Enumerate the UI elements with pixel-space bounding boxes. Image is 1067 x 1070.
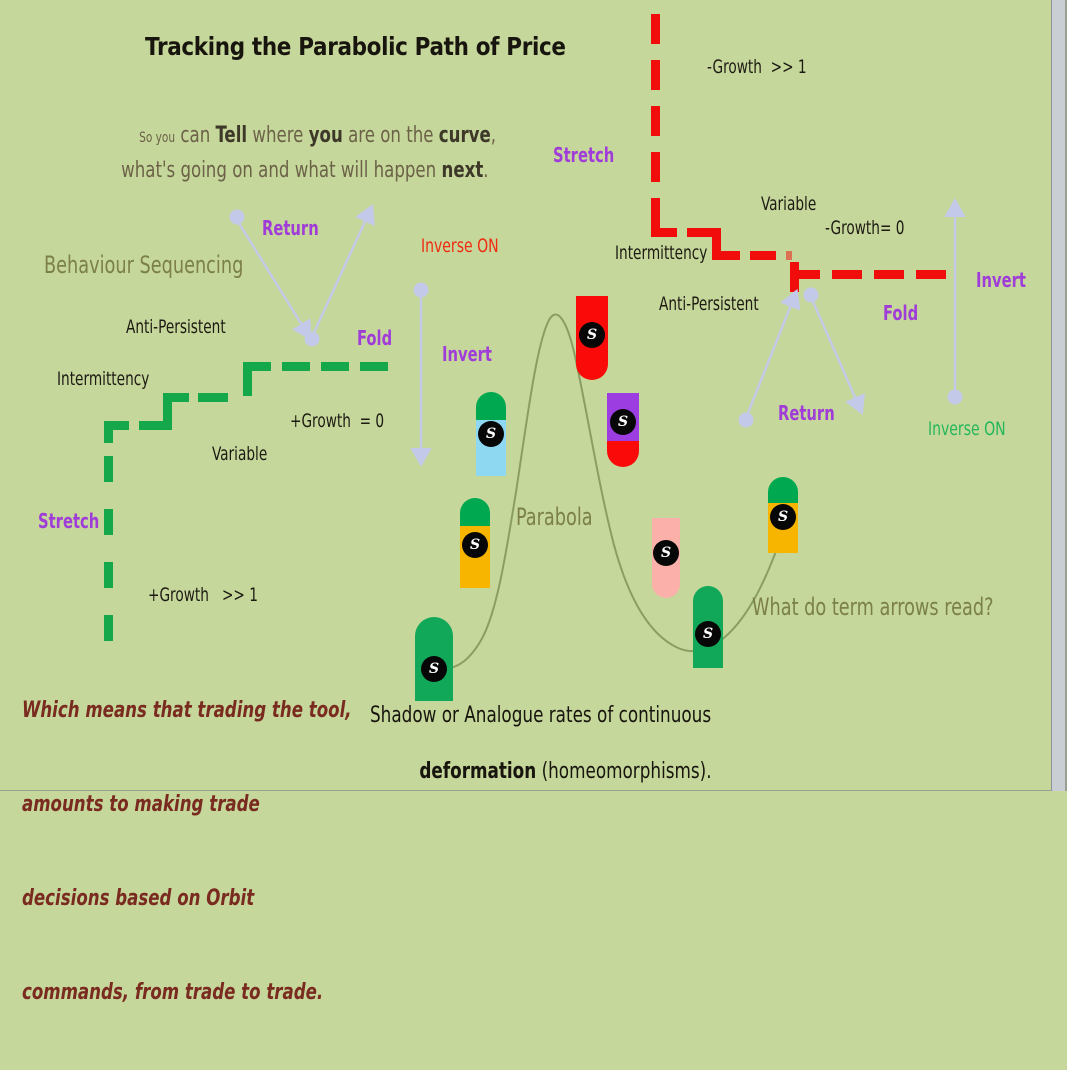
label-left-inverse-on: Inverse ON (421, 236, 499, 258)
subtitle-line-2: what's going on and what will happen nex… (100, 133, 489, 209)
page-title: Tracking the Parabolic Path of Price (145, 33, 566, 62)
label-left-fold: Fold (357, 327, 392, 350)
caption-homeomorphisms: (homeomorphisms). (536, 759, 711, 784)
label-left-return: Return (262, 217, 319, 240)
diagram-canvas: Tracking the Parabolic Path of Price So … (0, 0, 1067, 791)
stair-right-seg (651, 14, 660, 44)
label-right-return: Return (778, 402, 835, 425)
stair-right-seg (750, 251, 776, 260)
caption-deformation: deformation (419, 759, 536, 784)
candle-cap-green (476, 392, 506, 422)
candle-badge: S (579, 322, 605, 348)
candle-badge: S (462, 532, 488, 558)
candle-c5: S (607, 393, 639, 467)
stair-left-seg (104, 421, 129, 430)
label-right-stretch: Stretch (553, 144, 614, 167)
candle-c6: S (652, 518, 680, 598)
stair-right-seg (651, 152, 660, 182)
maroon-note-line-4: commands, from trade to trade. (22, 977, 352, 1008)
stair-right-seg (786, 251, 792, 260)
stair-right-seg (651, 60, 660, 90)
subtitle-next: next (441, 158, 483, 183)
stair-left-seg (243, 362, 271, 371)
stair-right-seg (651, 228, 677, 237)
candle-c8: S (768, 477, 798, 553)
label-right-variable: Variable (761, 194, 816, 216)
label-parabola: Parabola (516, 504, 593, 532)
stair-left-seg (282, 362, 310, 371)
stair-right-seg (651, 106, 660, 136)
scrollbar[interactable] (1051, 0, 1065, 791)
candle-c3: S (476, 392, 506, 476)
subtitle-whatsgoing: what's going on and what will happen (121, 158, 441, 183)
stair-right-seg (651, 198, 660, 228)
stair-right-seg (712, 251, 740, 260)
label-left-stretch: Stretch (38, 510, 99, 533)
candle-cap-red (607, 441, 639, 467)
stair-right-seg (790, 270, 820, 279)
label-what-do-term-arrows-read: What do term arrows read? (752, 594, 993, 622)
stair-left-seg (139, 421, 164, 430)
parabola-curve (430, 315, 786, 670)
maroon-note-line-2: amounts to making trade (22, 789, 352, 820)
stair-right-seg (916, 270, 946, 279)
candle-c1: S (415, 617, 453, 701)
candle-badge: S (695, 621, 721, 647)
label-left-anti-persistent: Anti-Persistent (126, 317, 226, 339)
label-left-variable: Variable (212, 444, 267, 466)
candle-c2: S (460, 498, 490, 588)
stair-left-seg (198, 393, 228, 402)
maroon-note-line-1: Which means that trading the tool, (22, 695, 352, 726)
label-right-growth-big: -Growth >> 1 (707, 57, 807, 79)
stair-left-seg (104, 509, 113, 535)
stair-right-seg (874, 270, 904, 279)
candle-cap-green (460, 498, 490, 528)
candle-badge: S (610, 409, 636, 435)
label-right-invert: Invert (976, 269, 1026, 292)
subtitle-comma: , (491, 123, 496, 148)
maroon-note: Which means that trading the tool, amoun… (22, 633, 352, 1070)
right-invert-arrow (948, 210, 963, 405)
right-fold-arrow (804, 288, 859, 405)
label-behaviour-sequencing: Behaviour Sequencing (44, 252, 243, 280)
label-right-growth-zero: -Growth= 0 (825, 218, 904, 240)
stair-left-seg (360, 362, 388, 371)
stair-left-seg (163, 400, 172, 430)
label-right-inverse-on: Inverse ON (928, 419, 1006, 441)
stair-left-seg (104, 456, 113, 482)
label-left-growth-zero: +Growth = 0 (290, 411, 384, 433)
candle-c4: S (576, 296, 608, 380)
stair-right-seg (832, 270, 862, 279)
candle-badge: S (478, 421, 504, 447)
label-left-invert: Invert (442, 343, 492, 366)
maroon-note-line-3: decisions based on Orbit (22, 883, 352, 914)
stair-left-seg (104, 562, 113, 588)
label-left-intermittency: Intermittency (57, 369, 149, 391)
candle-badge: S (770, 504, 796, 530)
stair-right-seg (687, 228, 713, 237)
label-right-fold: Fold (883, 302, 918, 325)
candle-cap-green (768, 477, 798, 505)
candle-badge: S (421, 656, 447, 682)
label-right-anti-persistent: Anti-Persistent (659, 294, 759, 316)
bottom-caption-line-1: Shadow or Analogue rates of continuous (370, 703, 711, 728)
subtitle-period: . (483, 158, 488, 183)
label-right-intermittency: Intermittency (615, 243, 707, 265)
label-left-growth-big: +Growth >> 1 (148, 585, 258, 607)
candle-c7: S (693, 586, 723, 668)
stair-left-seg (163, 393, 189, 402)
candle-badge: S (653, 540, 679, 566)
left-invert-arrow (414, 283, 429, 456)
bottom-caption-line-2: deformation (homeomorphisms). (398, 734, 712, 810)
stair-left-seg (321, 362, 349, 371)
